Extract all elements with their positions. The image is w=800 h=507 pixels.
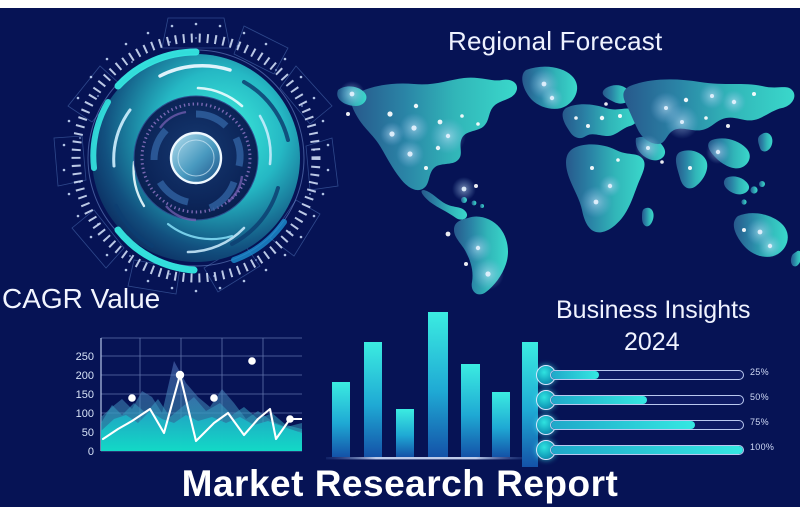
bar-4 (428, 312, 448, 457)
bar-2 (364, 342, 382, 457)
bar-series (332, 312, 526, 457)
regional-forecast-title: Regional Forecast (448, 26, 662, 57)
bar-3 (396, 409, 414, 457)
progress-fill (551, 446, 743, 454)
progress-track[interactable] (550, 420, 744, 430)
progress-label: 75% (750, 417, 769, 427)
progress-row[interactable]: 50% (536, 389, 786, 410)
y-tick-200: 200 (76, 370, 94, 382)
progress-track[interactable] (550, 395, 744, 405)
bar-5 (461, 364, 480, 457)
progress-row[interactable]: 100% (536, 439, 786, 460)
progress-label: 25% (750, 367, 769, 377)
poster-canvas: Regional Forecast (0, 8, 800, 507)
bar-chart-axis (326, 457, 526, 459)
y-tick-100: 100 (76, 408, 94, 420)
market-bar-chart (326, 304, 526, 466)
world-map-dots-icon (330, 56, 800, 296)
progress-bar-group: 25% 50% 75% 100% (536, 364, 786, 464)
progress-track[interactable] (550, 370, 744, 380)
progress-row[interactable]: 75% (536, 414, 786, 435)
technology-hud-circle-icon (48, 10, 344, 306)
bar-1 (332, 382, 350, 457)
progress-fill (551, 396, 647, 404)
y-tick-50: 50 (82, 427, 94, 439)
progress-row[interactable]: 25% (536, 364, 786, 385)
progress-track[interactable] (550, 445, 744, 455)
bar-6 (492, 392, 510, 457)
y-tick-250: 250 (76, 351, 94, 363)
cagr-area-chart: 250 200 150 100 50 0 (62, 333, 302, 473)
progress-label: 100% (750, 442, 774, 452)
market-research-poster: Regional Forecast (0, 0, 800, 507)
business-insights-line2: 2024 (624, 328, 680, 357)
cagr-value-label: CAGR Value (2, 283, 160, 315)
progress-fill (551, 371, 599, 379)
y-tick-150: 150 (76, 389, 94, 401)
progress-fill (551, 421, 695, 429)
y-tick-0: 0 (88, 446, 94, 458)
business-insights-line1: Business Insights (556, 296, 751, 325)
page-title: Market Research Report (0, 463, 800, 505)
progress-label: 50% (750, 392, 769, 402)
